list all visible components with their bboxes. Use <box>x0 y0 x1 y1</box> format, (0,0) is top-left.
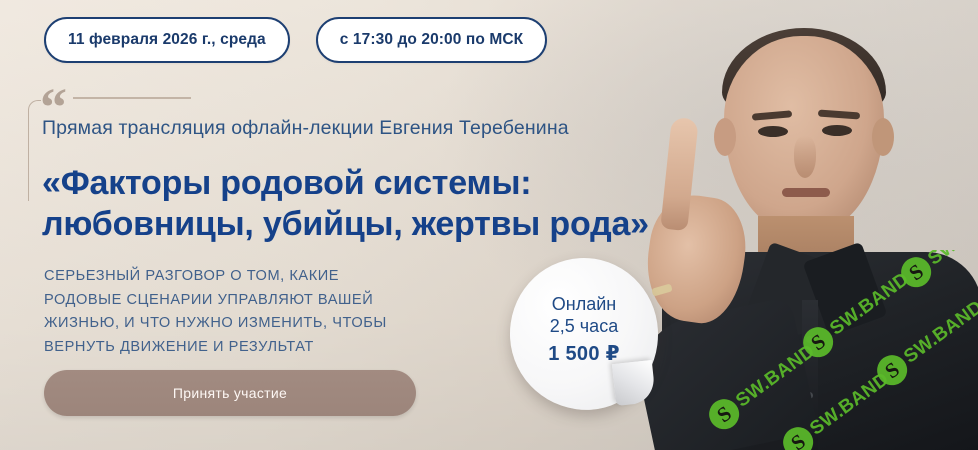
quote-decoration: “ <box>40 86 708 110</box>
sticker-duration: 2,5 часа <box>550 315 618 338</box>
photo-shirt-button-1 <box>806 336 813 343</box>
description-line-3: ЖИЗНЬЮ, И ЧТО НУЖНО ИЗМЕНИТЬ, ЧТОБЫ <box>44 312 464 336</box>
photo-ear-right <box>872 118 894 156</box>
photo-eye-right <box>822 125 852 136</box>
participate-button[interactable]: Принять участие <box>44 370 416 416</box>
photo-eye-left <box>758 126 788 137</box>
date-badge[interactable]: 11 февраля 2026 г., среда <box>44 17 290 63</box>
info-badges: 11 февраля 2026 г., среда с 17:30 до 20:… <box>44 17 547 63</box>
subtitle-block: “ Прямая трансляция офлайн-лекции Евгени… <box>28 86 708 140</box>
photo-mouth <box>782 188 830 197</box>
subtitle-text: Прямая трансляция офлайн-лекции Евгения … <box>42 117 708 140</box>
description-line-4: ВЕРНУТЬ ДВИЖЕНИЕ И РЕЗУЛЬТАТ <box>44 336 464 360</box>
promo-banner: 11 февраля 2026 г., среда с 17:30 до 20:… <box>0 0 978 450</box>
photo-nose <box>794 136 816 178</box>
description-line-1: СЕРЬЕЗНЫЙ РАЗГОВОР О ТОМ, КАКИЕ <box>44 265 464 289</box>
price-sticker: Онлайн 2,5 часа 1 500 ₽ <box>510 258 658 410</box>
headline-line-1: «Факторы родовой системы: <box>42 164 531 202</box>
sticker-content: Онлайн 2,5 часа 1 500 ₽ <box>510 258 658 410</box>
time-badge[interactable]: с 17:30 до 20:00 по МСК <box>316 17 547 63</box>
photo-ear-left <box>714 118 736 156</box>
sticker-price: 1 500 ₽ <box>548 342 620 367</box>
headline-line-2: любовницы, убийцы, жертвы рода» <box>42 204 692 245</box>
description-line-2: РОДОВЫЕ СЦЕНАРИИ УПРАВЛЯЮТ ВАШЕЙ <box>44 289 464 313</box>
sticker-format: Онлайн <box>552 293 616 316</box>
description-text: СЕРЬЕЗНЫЙ РАЗГОВОР О ТОМ, КАКИЕ РОДОВЫЕ … <box>44 265 464 360</box>
page-title: «Факторы родовой системы: любовницы, уби… <box>42 163 692 246</box>
photo-head <box>724 36 884 232</box>
time-badge-label: с 17:30 до 20:00 по МСК <box>340 31 523 49</box>
date-badge-label: 11 февраля 2026 г., среда <box>68 31 266 49</box>
quote-rule-line <box>73 97 191 99</box>
